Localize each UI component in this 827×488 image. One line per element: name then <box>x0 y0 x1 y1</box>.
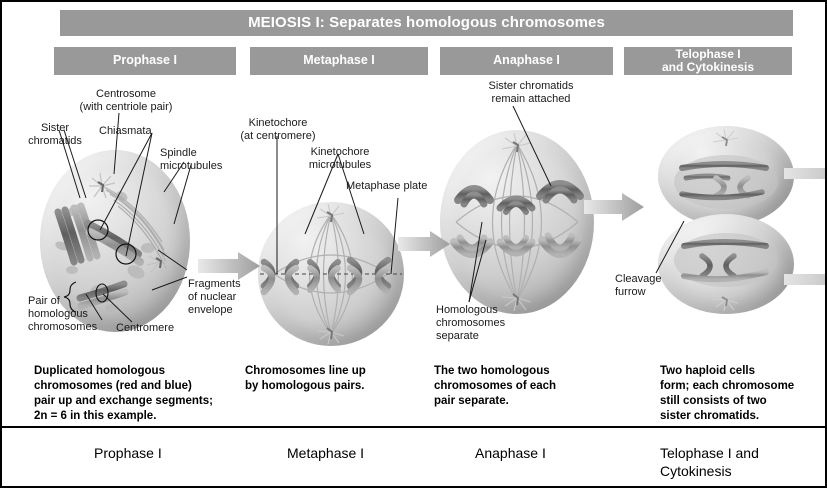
phase-header-label-metaphase: Metaphase I <box>303 54 375 68</box>
centrosome-telophase-lower <box>713 297 738 311</box>
meiosis-figure: MEIOSIS I: Separates homologous chromoso… <box>0 0 827 488</box>
cell-anaphase <box>440 130 594 314</box>
centrosome-telophase-upper <box>713 129 738 146</box>
figure-title: MEIOSIS I: Separates homologous chromoso… <box>248 15 605 31</box>
centrosome-bottom <box>147 250 173 275</box>
label-sister-chromatids-remain: Sister chromatids remain attached <box>476 80 586 106</box>
caption-metaphase: Chromosomes line up by homologous pairs. <box>245 364 420 394</box>
tetrad-1 <box>264 262 296 292</box>
phase-name-prophase: Prophase I <box>94 445 162 463</box>
label-homologous-chromosomes-separate: Homologous chromosomes separate <box>436 304 508 342</box>
phase-name-anaphase: Anaphase I <box>475 445 546 463</box>
centrosome-top-anaphase <box>502 133 531 152</box>
label-fragments-nuclear-envelope: Fragments of nuclear envelope <box>188 278 244 316</box>
cell-telophase-lower-contents <box>658 214 794 314</box>
cell-metaphase <box>258 202 404 346</box>
chromosome-v-lower-left <box>454 238 490 254</box>
label-centrosome: Centrosome (with centriole pair) <box>68 88 184 114</box>
caption-anaphase: The two homologous chromosomes of each p… <box>434 364 609 409</box>
chromosome-v-lower-mid <box>500 238 532 253</box>
cell-telophase-upper <box>658 126 794 226</box>
figure-title-bar: MEIOSIS I: Separates homologous chromoso… <box>60 10 793 36</box>
phase-header-label-anaphase: Anaphase I <box>493 54 560 68</box>
phase-header-label-prophase: Prophase I <box>113 54 177 68</box>
centrosome-bottom-metaphase <box>317 328 344 344</box>
label-kinetochore: Kinetochore (at centromere) <box>230 117 326 143</box>
label-cleavage-furrow: Cleavage furrow <box>615 273 675 299</box>
label-spindle-microtubules: Spindle microtubules <box>160 147 230 173</box>
cell-anaphase-contents <box>440 130 594 314</box>
cell-metaphase-contents <box>258 202 404 346</box>
caption-telophase: Two haploid cells form; each chromosome … <box>660 364 825 424</box>
phase-header-telophase: Telophase I and Cytokinesis <box>624 47 792 75</box>
spindle-fibers-anaphase <box>456 144 578 300</box>
tetrad-3 <box>350 260 388 292</box>
phase-header-metaphase: Metaphase I <box>250 47 428 75</box>
label-sister-chromatids: Sister chromatids <box>24 122 86 148</box>
label-centromere: Centromere <box>116 322 174 335</box>
chromosome-v-upper-left <box>458 189 490 204</box>
phase-header-label-telophase: Telophase I and Cytokinesis <box>662 48 754 74</box>
caption-prophase: Duplicated homologous chromosomes (red a… <box>34 364 214 424</box>
cell-telophase-lower <box>658 214 794 314</box>
label-chiasmata: Chiasmata <box>99 125 152 138</box>
phase-header-prophase: Prophase I <box>54 47 236 75</box>
label-kinetochore-microtubules: Kinetochore microtubules <box>302 146 378 172</box>
label-metaphase-plate: Metaphase plate <box>346 180 427 193</box>
phase-name-telophase: Telophase I and Cytokinesis <box>660 445 759 480</box>
phase-name-metaphase: Metaphase I <box>287 445 364 463</box>
label-pair-homologous-chromosomes: Pair of homologous chromosomes <box>28 295 102 333</box>
chromosome-v-lower-right <box>542 236 578 254</box>
chromosome-v-upper-right <box>540 184 580 200</box>
transition-arrow-prophase-metaphase <box>198 252 260 280</box>
bottom-divider <box>2 426 827 428</box>
chromosome-v-upper-mid <box>500 199 532 212</box>
phase-header-anaphase: Anaphase I <box>440 47 613 75</box>
cell-telophase-upper-contents <box>658 126 794 226</box>
centrosome-top-metaphase <box>317 204 344 222</box>
